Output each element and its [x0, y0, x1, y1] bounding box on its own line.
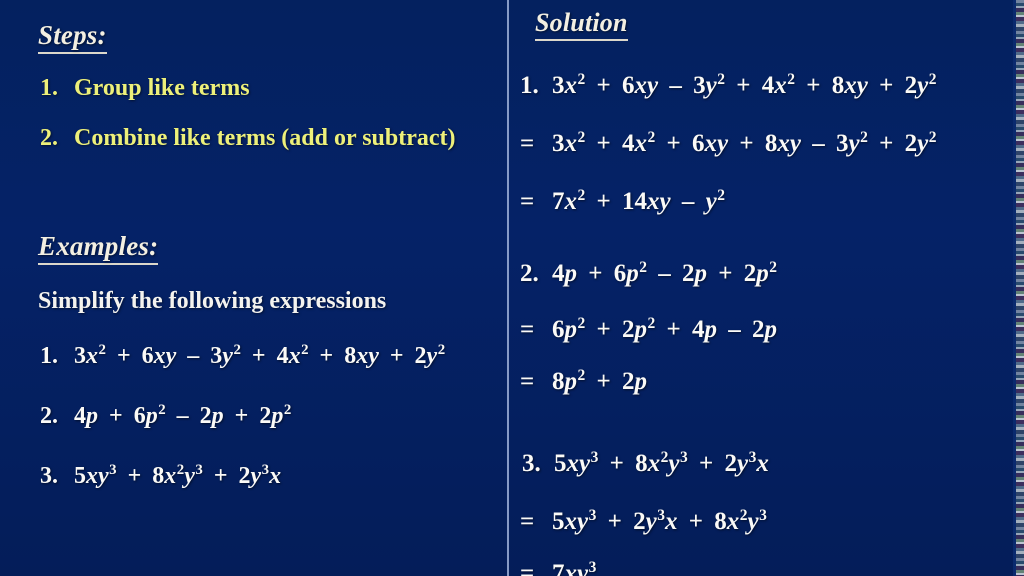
solution-1-line-3-lead: = [520, 188, 552, 216]
example-3-expression: 5xy3 + 8x2y3 + 2y3x [74, 463, 281, 490]
solution-3-line-3-lead: = [520, 560, 552, 576]
example-3-number: 3. [40, 463, 74, 490]
solution-3-line-1-expression: 5xy3 + 8x2y3 + 2y3x [554, 450, 769, 478]
solution-2-line-2-expression: 6p2 + 2p2 + 4p – 2p [552, 316, 777, 344]
lesson-slide: Steps: 1. Group like terms 2. Combine li… [0, 0, 1024, 576]
solution-3-line-1: 3. 5xy3 + 8x2y3 + 2y3x [522, 450, 769, 478]
solution-2-line-2-lead: = [520, 316, 552, 344]
example-2-expression: 4p + 6p2 – 2p + 2p2 [74, 403, 291, 430]
solution-1-line-2: = 3x2 + 4x2 + 6xy + 8xy – 3y2 + 2y2 [520, 130, 936, 158]
solution-1-line-3-expression: 7x2 + 14xy – y2 [552, 188, 725, 216]
solution-3-line-1-lead: 3. [522, 450, 554, 478]
left-column: Steps: 1. Group like terms 2. Combine li… [0, 0, 507, 576]
step-item-1: 1. Group like terms [40, 75, 250, 102]
example-expression-1: 1. 3x2 + 6xy – 3y2 + 4x2 + 8xy + 2y2 [40, 343, 445, 370]
example-2-number: 2. [40, 403, 74, 430]
solution-1-line-2-lead: = [520, 130, 552, 158]
steps-heading: Steps: [38, 20, 107, 54]
step-item-2: 2. Combine like terms (add or subtract) [40, 125, 456, 152]
solution-heading-text: Solution [535, 8, 628, 41]
step-2-number: 2. [40, 125, 74, 152]
solution-2-line-3-lead: = [520, 368, 552, 396]
example-1-number: 1. [40, 343, 74, 370]
solution-2-line-3: = 8p2 + 2p [520, 368, 647, 396]
solution-3-line-2: = 5xy3 + 2y3x + 8x2y3 [520, 508, 767, 536]
solution-heading: Solution [535, 8, 628, 41]
example-expression-3: 3. 5xy3 + 8x2y3 + 2y3x [40, 463, 281, 490]
solution-1-line-3: = 7x2 + 14xy – y2 [520, 188, 725, 216]
solution-1-line-1: 1. 3x2 + 6xy – 3y2 + 4x2 + 8xy + 2y2 [520, 72, 936, 100]
solution-2-line-1: 2. 4p + 6p2 – 2p + 2p2 [520, 260, 777, 288]
right-edge-noise-strip [1016, 0, 1024, 576]
step-1-number: 1. [40, 75, 74, 102]
solution-2-line-2: = 6p2 + 2p2 + 4p – 2p [520, 316, 777, 344]
solution-3-line-3: = 7xy3 [520, 560, 596, 576]
solution-2-line-1-lead: 2. [520, 260, 552, 288]
solution-3-line-3-expression: 7xy3 [552, 560, 596, 576]
solution-1-line-2-expression: 3x2 + 4x2 + 6xy + 8xy – 3y2 + 2y2 [552, 130, 936, 158]
solution-1-line-1-lead: 1. [520, 72, 552, 100]
solution-3-line-2-lead: = [520, 508, 552, 536]
solution-2-line-1-expression: 4p + 6p2 – 2p + 2p2 [552, 260, 777, 288]
step-1-label: Group like terms [74, 75, 250, 102]
examples-heading: Examples: [38, 231, 158, 265]
steps-heading-text: Steps: [38, 20, 107, 54]
solution-1-line-1-expression: 3x2 + 6xy – 3y2 + 4x2 + 8xy + 2y2 [552, 72, 936, 100]
example-expression-2: 2. 4p + 6p2 – 2p + 2p2 [40, 403, 291, 430]
solution-3-line-2-expression: 5xy3 + 2y3x + 8x2y3 [552, 508, 767, 536]
example-1-expression: 3x2 + 6xy – 3y2 + 4x2 + 8xy + 2y2 [74, 343, 445, 370]
solution-2-line-3-expression: 8p2 + 2p [552, 368, 647, 396]
step-2-label: Combine like terms (add or subtract) [74, 125, 456, 152]
examples-heading-text: Examples: [38, 231, 158, 265]
examples-prompt: Simplify the following expressions [38, 288, 386, 315]
